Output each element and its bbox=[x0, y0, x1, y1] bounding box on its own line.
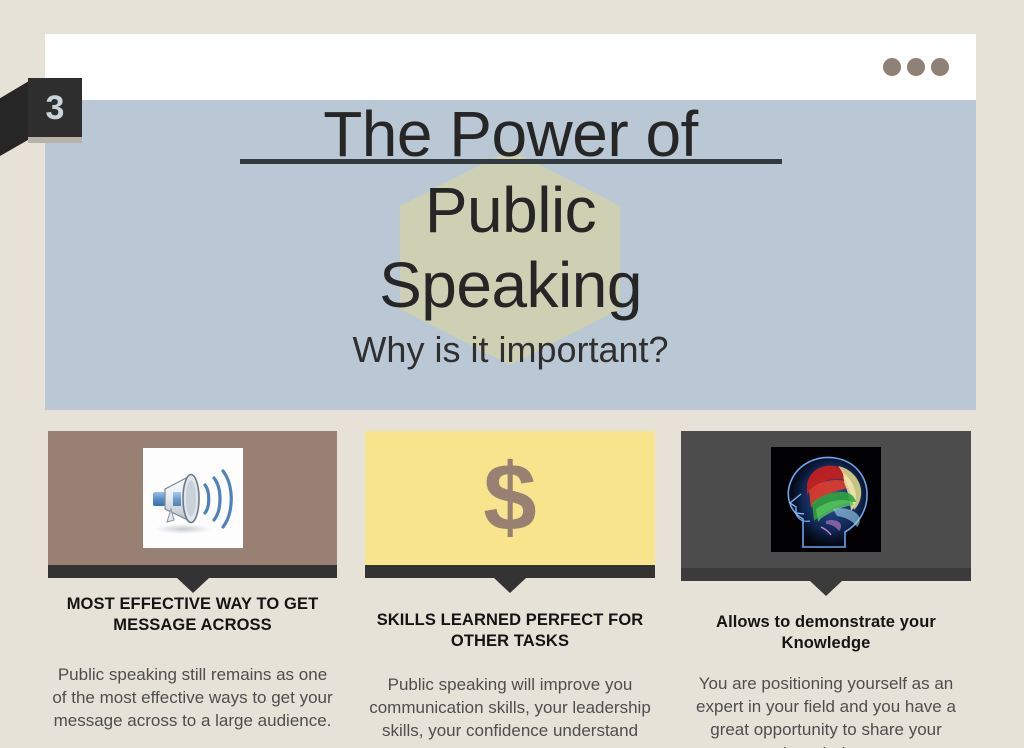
menu-dots-button[interactable] bbox=[883, 58, 949, 76]
card-media-2: $ bbox=[365, 431, 655, 565]
title-underline-rule bbox=[240, 159, 782, 164]
card-bar-fill bbox=[48, 565, 337, 578]
card-demonstrate-knowledge[interactable]: Allows to demonstrate your Knowledge You… bbox=[681, 431, 971, 748]
card-arrow-icon bbox=[494, 578, 526, 593]
card-arrow-icon bbox=[177, 578, 209, 593]
card-heading: SKILLS LEARNED PERFECT FOR OTHER TASKS bbox=[365, 610, 655, 652]
title-stack: The Power of Public Speaking Why is it i… bbox=[45, 100, 976, 410]
card-media-3 bbox=[681, 431, 971, 568]
title-line-3: Speaking bbox=[379, 248, 642, 324]
menu-dot-icon bbox=[883, 58, 901, 76]
slide-canvas: The Power of Public Speaking Why is it i… bbox=[0, 0, 1024, 748]
slide-number-label: 3 bbox=[46, 91, 65, 125]
card-bar-fill bbox=[681, 568, 971, 581]
card-heading: Allows to demonstrate your Knowledge bbox=[681, 612, 971, 654]
card-bar-1 bbox=[48, 565, 337, 578]
card-heading: MOST EFFECTIVE WAY TO GET MESSAGE ACROSS bbox=[48, 594, 337, 636]
megaphone-svg bbox=[147, 459, 239, 537]
title-panel: The Power of Public Speaking Why is it i… bbox=[45, 100, 976, 410]
card-arrow-icon bbox=[810, 581, 842, 596]
menu-dot-icon bbox=[931, 58, 949, 76]
slide-header-bar bbox=[45, 34, 976, 100]
title-line-2: Public bbox=[425, 173, 596, 249]
megaphone-icon bbox=[143, 448, 243, 548]
card-skills-learned[interactable]: $ SKILLS LEARNED PERFECT FOR OTHER TASKS… bbox=[365, 431, 655, 748]
ribbon-box: 3 bbox=[28, 78, 82, 137]
card-bar-3 bbox=[681, 568, 971, 581]
card-bar-fill bbox=[365, 565, 655, 578]
dollar-sign-icon: $ bbox=[483, 452, 536, 543]
slide-number-ribbon: 3 bbox=[0, 78, 82, 140]
card-media-1 bbox=[48, 431, 337, 565]
ribbon-shadow bbox=[28, 136, 82, 143]
card-most-effective-way[interactable]: MOST EFFECTIVE WAY TO GET MESSAGE ACROSS… bbox=[48, 431, 337, 733]
card-body: Public speaking will improve you communi… bbox=[365, 673, 655, 748]
brain-head-svg bbox=[771, 447, 881, 552]
menu-dot-icon bbox=[907, 58, 925, 76]
card-bar-2 bbox=[365, 565, 655, 578]
brain-head-icon bbox=[771, 447, 881, 552]
card-body: You are positioning yourself as an exper… bbox=[681, 672, 971, 748]
slide-subtitle: Why is it important? bbox=[352, 330, 668, 370]
card-body: Public speaking still remains as one of … bbox=[48, 663, 337, 733]
